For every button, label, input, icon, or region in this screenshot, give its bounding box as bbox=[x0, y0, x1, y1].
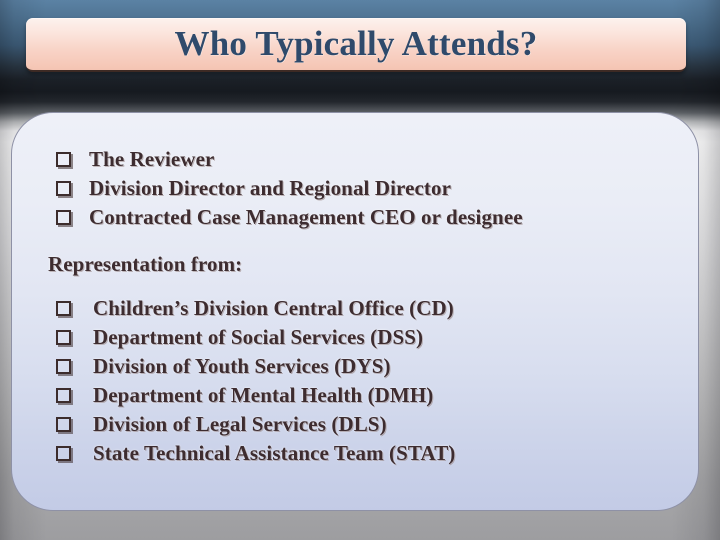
list-item-label: Department of Mental Health (DMH) bbox=[93, 381, 433, 409]
list-item-label: Department of Social Services (DSS) bbox=[93, 323, 423, 351]
square-bullet-icon bbox=[56, 446, 71, 461]
slide-title-plate: Who Typically Attends? bbox=[26, 18, 686, 72]
square-bullet-icon bbox=[56, 417, 71, 432]
page-title: Who Typically Attends? bbox=[175, 26, 538, 61]
square-bullet-icon bbox=[56, 388, 71, 403]
square-bullet-icon bbox=[56, 210, 71, 225]
list-item-label: Children’s Division Central Office (CD) bbox=[93, 294, 454, 322]
list-item-label: Division of Youth Services (DYS) bbox=[93, 352, 391, 380]
square-bullet-icon bbox=[56, 301, 71, 316]
representation-list: Children’s Division Central Office (CD) … bbox=[48, 294, 678, 467]
list-item-label: Division Director and Regional Director bbox=[89, 174, 451, 202]
list-item: State Technical Assistance Team (STAT) bbox=[48, 439, 678, 467]
square-bullet-icon bbox=[56, 181, 71, 196]
list-item-label: State Technical Assistance Team (STAT) bbox=[93, 439, 455, 467]
list-item: Division of Youth Services (DYS) bbox=[48, 352, 678, 380]
list-item: The Reviewer bbox=[48, 145, 678, 173]
list-item: Department of Mental Health (DMH) bbox=[48, 381, 678, 409]
list-item-label: Division of Legal Services (DLS) bbox=[93, 410, 387, 438]
list-item: Children’s Division Central Office (CD) bbox=[48, 294, 678, 322]
list-item: Contracted Case Management CEO or design… bbox=[48, 203, 678, 231]
square-bullet-icon bbox=[56, 330, 71, 345]
representation-heading: Representation from: bbox=[48, 250, 678, 278]
square-bullet-icon bbox=[56, 359, 71, 374]
presentation-slide: Who Typically Attends? The Reviewer Divi… bbox=[0, 0, 720, 540]
list-item: Division Director and Regional Director bbox=[48, 174, 678, 202]
list-item: Division of Legal Services (DLS) bbox=[48, 410, 678, 438]
list-item: Department of Social Services (DSS) bbox=[48, 323, 678, 351]
list-item-label: Contracted Case Management CEO or design… bbox=[89, 203, 523, 231]
slide-body: The Reviewer Division Director and Regio… bbox=[48, 145, 678, 468]
square-bullet-icon bbox=[56, 152, 71, 167]
attendees-list: The Reviewer Division Director and Regio… bbox=[48, 145, 678, 231]
slide-content-panel: The Reviewer Division Director and Regio… bbox=[11, 112, 699, 511]
list-item-label: The Reviewer bbox=[89, 145, 214, 173]
